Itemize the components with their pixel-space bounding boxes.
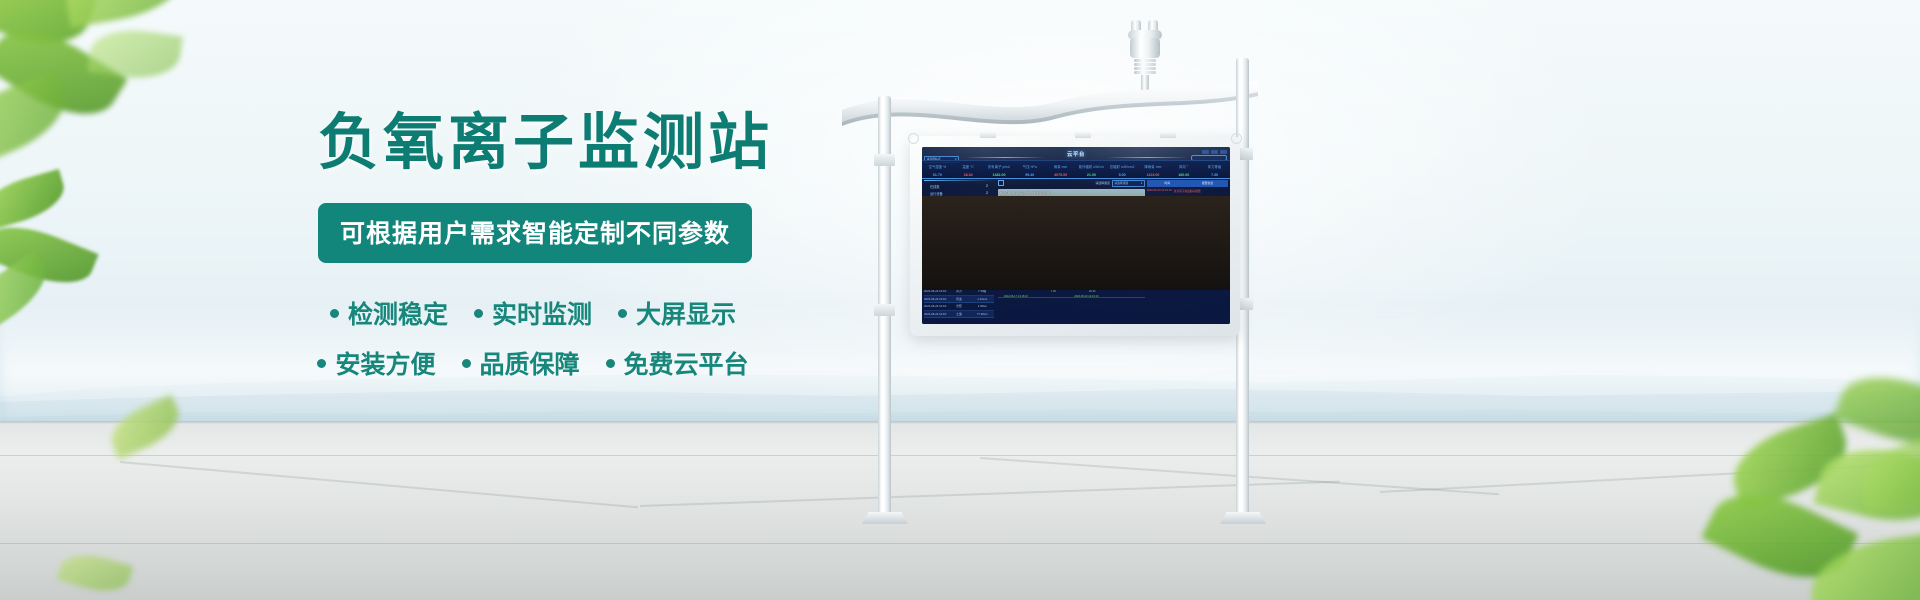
cabinet-top-mount <box>1160 132 1176 138</box>
metric-label: 气压 hPa <box>1014 164 1045 169</box>
stat-label: 在线数 <box>930 184 940 189</box>
bullet-dot-icon <box>474 309 483 318</box>
cabinet-top-mount <box>980 132 996 138</box>
metric-value: 21.00 <box>1076 173 1107 177</box>
table-cell: 土壤 <box>947 311 970 318</box>
chart-value-label: 18.34 <box>1089 290 1096 293</box>
cabinet-hook-icon <box>908 133 919 144</box>
table-cell: 2022-06-23 14:16:10 <box>924 311 947 318</box>
feature-label: 免费云平台 <box>624 345 749 381</box>
feed-osd-site: 站点名称：负氧离子监测站（生态环境监测） <box>1000 191 1052 195</box>
metric-value: 1123.00 <box>1138 173 1169 177</box>
alarm-column-header: 报警信息 <box>1187 180 1228 187</box>
chevron-down-icon: ▾ <box>1141 181 1142 185</box>
feature-item: 安装方便 <box>317 345 435 381</box>
metric-value: 4075.00 <box>1045 173 1076 177</box>
metric-label: 紫外辐射 uW/cm <box>1076 164 1107 169</box>
channel-selector[interactable]: 请选择通道 ▾ <box>1112 180 1145 187</box>
metric-label: 雨量 mm <box>1045 164 1076 169</box>
alarm-time: 2022-06-23 14:16:10 <box>1147 189 1172 193</box>
alarm-table-header: 时间报警信息 <box>1147 180 1228 187</box>
hero-copy: 负氧离子监测站 可根据用户需求智能定制不同参数 检测稳定 实时监测 大屏显示 <box>318 112 748 395</box>
pole-latch <box>874 304 895 316</box>
feature-list: 检测稳定 实时监测 大屏显示 安装方便 品质保障 <box>318 295 748 381</box>
metric-cell: 温度 ℃18.34 <box>953 161 984 178</box>
alarm-panel: 时间报警信息 2022-06-23 14:16:10负氧离子浓度超标报警 <box>1147 178 1230 324</box>
monitoring-station: 云平台 请选择站点 ▾ 空气湿度 %61.70温度 ℃18.34负氧离子 pm <box>840 18 1300 518</box>
metric-cell: 降雨量 mm1123.00 <box>1138 161 1169 178</box>
alarm-table-body: 2022-06-23 14:16:10负氧离子浓度超标报警 <box>1147 189 1228 193</box>
header-tool-icon[interactable] <box>1202 150 1209 154</box>
pole-latch <box>874 154 895 166</box>
dashboard-body: 在线数2运行设备2离线设备0 实时监测数据 超标报警 时间要素数值 2022-0… <box>922 178 1230 324</box>
metric-value: 1482.00 <box>984 173 1015 177</box>
pavement-seam <box>120 461 638 508</box>
dashboard-screen[interactable]: 云平台 请选择站点 ▾ 空气湿度 %61.70温度 ℃18.34负氧离子 pm <box>922 147 1230 324</box>
metric-cell: 气压 hPa95.40 <box>1014 161 1045 178</box>
header-tool-tiles[interactable] <box>1202 150 1227 154</box>
camera-icon[interactable] <box>998 180 1004 186</box>
bullet-dot-icon <box>462 359 471 368</box>
metric-label: 温度 ℃ <box>953 164 984 169</box>
feature-row: 安装方便 品质保障 免费云平台 <box>318 345 748 381</box>
table-cell: 77.00cm <box>971 311 994 318</box>
feature-item: 免费云平台 <box>606 345 749 381</box>
metric-label: 负氧离子 pmol <box>984 164 1015 169</box>
feature-item: 品质保障 <box>462 345 580 381</box>
metric-label: 风向 ° <box>1168 164 1199 169</box>
alarm-column-header: 时间 <box>1147 180 1188 187</box>
header-tool-icon[interactable] <box>1211 150 1218 154</box>
metric-cell: 总辐射 mW/cm25.00 <box>1107 161 1138 178</box>
feature-label: 品质保障 <box>480 345 580 381</box>
station-canopy <box>840 80 1260 140</box>
channel-label: 请选择通道 <box>1095 181 1109 185</box>
metric-label: 空气湿度 % <box>922 164 953 169</box>
metric-cell: 紫外辐射 uW/cm21.00 <box>1076 161 1107 178</box>
table-cell: 1.30lux <box>971 303 994 310</box>
cabinet-hook-icon <box>1231 133 1242 144</box>
table-cell: 1.44m/s <box>971 296 994 303</box>
canopy-shape <box>840 80 1260 140</box>
metric-cell: 雨量 mm4075.00 <box>1045 161 1076 178</box>
table-cell: 风速 <box>947 296 970 303</box>
metric-cell: 风力等级7.30 <box>1199 161 1230 178</box>
metric-value: 18.34 <box>953 173 984 177</box>
display-cabinet: 云平台 请选择站点 ▾ 空气湿度 %61.70温度 ℃18.34负氧离子 pm <box>910 136 1240 336</box>
metric-label: 风力等级 <box>1199 164 1230 169</box>
metric-value: 180.00 <box>1168 173 1199 177</box>
table-cell: 2022-06-23 14:16:10 <box>924 303 947 310</box>
stat-value: 2 <box>986 184 988 189</box>
metric-cell: 空气湿度 %61.70 <box>922 161 953 178</box>
metric-label: 降雨量 mm <box>1138 164 1169 169</box>
channel-selector-value: 请选择通道 <box>1114 181 1128 185</box>
bullet-dot-icon <box>317 359 326 368</box>
bullet-dot-icon <box>606 359 615 368</box>
metric-value: 95.40 <box>1014 173 1045 177</box>
video-toolbar: 请选择通道 请选择通道 ▾ <box>998 180 1145 187</box>
subtitle-badge: 可根据用户需求智能定制不同参数 <box>318 203 752 263</box>
bullet-dot-icon <box>330 309 339 318</box>
feature-label: 安装方便 <box>335 345 435 381</box>
pavement-line <box>0 543 1920 544</box>
header-tool-icon[interactable] <box>1220 150 1227 154</box>
table-row[interactable]: 2022-06-23 14:16:10土壤77.00cm <box>924 311 994 319</box>
metric-cell: 风向 °180.00 <box>1168 161 1199 178</box>
alarm-dark-area <box>922 196 1230 290</box>
pavement-seam <box>1380 463 1919 493</box>
page-title: 负氧离子监测站 <box>318 112 748 173</box>
pole-base-right <box>1220 512 1266 524</box>
chart-time-label: 2022-06-17 14:16:10 <box>1004 295 1028 298</box>
table-cell: 2022-06-23 14:16:10 <box>924 296 947 303</box>
feature-label: 检测稳定 <box>348 295 448 331</box>
panel-divider <box>924 180 994 181</box>
chart-time-label: 2022-06-23 14:16:10 <box>1074 295 1098 298</box>
dashboard-header: 云平台 <box>922 149 1230 160</box>
bullet-dot-icon <box>618 309 627 318</box>
cabinet-top-mount <box>1075 132 1091 138</box>
dashboard-title: 云平台 <box>922 150 1230 158</box>
metrics-strip: 空气湿度 %61.70温度 ℃18.34负氧离子 pmol1482.00气压 h… <box>922 160 1230 179</box>
pole-base-left <box>862 512 908 524</box>
metric-label: 总辐射 mW/cm2 <box>1107 164 1138 169</box>
feature-item: 大屏显示 <box>618 295 736 331</box>
metric-value: 5.00 <box>1107 173 1138 177</box>
alarm-message: 负氧离子浓度超标报警 <box>1174 189 1201 193</box>
chart-value-label: 7.30 <box>1051 290 1056 293</box>
alarm-row[interactable]: 2022-06-23 14:16:10负氧离子浓度超标报警 <box>1147 189 1228 193</box>
feature-item: 实时监测 <box>474 295 592 331</box>
cloud-platform-dashboard: 云平台 请选择站点 ▾ 空气湿度 %61.70温度 ℃18.34负氧离子 pm <box>922 147 1230 324</box>
feature-item: 检测稳定 <box>330 295 448 331</box>
banner-stage: 负氧离子监测站 可根据用户需求智能定制不同参数 检测稳定 实时监测 大屏显示 <box>0 0 1920 600</box>
metric-value: 7.30 <box>1199 173 1230 177</box>
feature-label: 实时监测 <box>492 295 592 331</box>
table-row[interactable]: 2022-06-23 14:16:10光照1.30lux <box>924 303 994 311</box>
metric-cell: 负氧离子 pmol1482.00 <box>984 161 1015 178</box>
stat-row: 在线数2 <box>924 184 994 189</box>
feature-label: 大屏显示 <box>636 295 736 331</box>
metric-value: 61.70 <box>922 173 953 177</box>
table-cell: 光照 <box>947 303 970 310</box>
table-row[interactable]: 2022-06-23 14:16:10风速1.44m/s <box>924 296 994 304</box>
feature-row: 检测稳定 实时监测 大屏显示 <box>318 295 748 331</box>
